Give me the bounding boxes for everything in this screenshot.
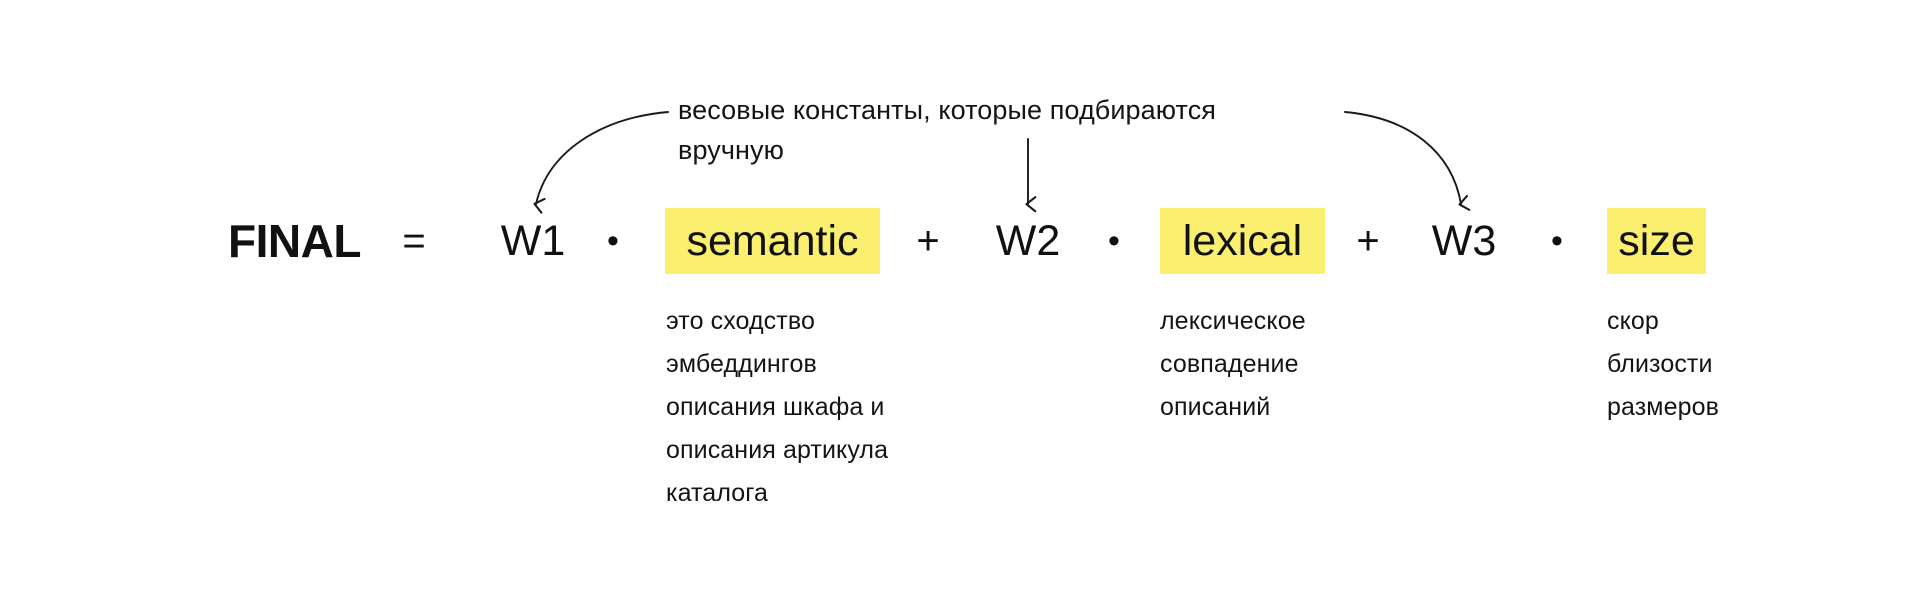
- multiply-dot-3: •: [1540, 208, 1574, 274]
- plus-sign-2: +: [1350, 208, 1386, 274]
- weights-annotation-text: весовые константы, которые подбираются в…: [678, 90, 1318, 170]
- formula-result-label: FINAL: [228, 208, 380, 274]
- arrow-to-w3-icon: [1345, 112, 1461, 204]
- arrow-to-w1-icon: [536, 112, 668, 204]
- diagram-canvas: весовые константы, которые подбираются в…: [0, 0, 1920, 590]
- formula-equals-sign: =: [394, 208, 434, 274]
- weight-w1: W1: [498, 208, 568, 274]
- factor-semantic: semantic: [665, 208, 880, 274]
- caption-lexical: лексическое совпадение описаний: [1160, 300, 1410, 429]
- factor-lexical: lexical: [1160, 208, 1325, 274]
- formula-row: FINAL = W1 • semantic + W2 • lexical + W…: [0, 208, 1920, 278]
- plus-sign-1: +: [910, 208, 946, 274]
- factor-size: size: [1607, 208, 1706, 274]
- weight-w2: W2: [992, 208, 1064, 274]
- multiply-dot-2: •: [1097, 208, 1131, 274]
- caption-size: скор близости размеров: [1607, 300, 1837, 429]
- weight-w3: W3: [1428, 208, 1500, 274]
- multiply-dot-1: •: [596, 208, 630, 274]
- caption-semantic: это сходство эмбеддингов описания шкафа …: [666, 300, 976, 515]
